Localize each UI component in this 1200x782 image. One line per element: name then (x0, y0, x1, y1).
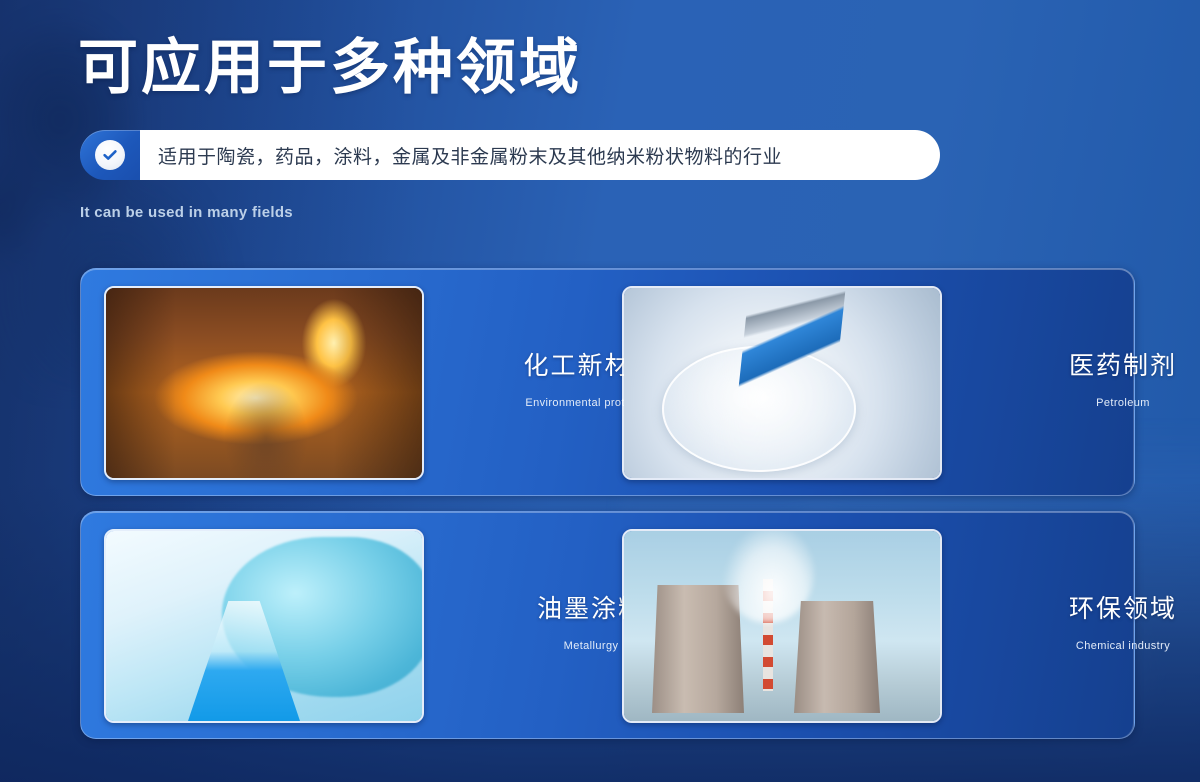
card-subtitle: Chemical industry (993, 640, 1200, 652)
card-title: 环保领域 (993, 592, 1200, 626)
thumbnail-petri-dish-tweezers (622, 286, 942, 480)
fields-card-row-2[interactable]: 油墨涂料 Metallurgy 环保领域 Chemical industry (80, 511, 1135, 739)
application-fields-banner: 可应用于多种领域 适用于陶瓷，药品，涂料，金属及非金属粉末及其他纳米粉状物料的行… (0, 0, 1200, 782)
english-subtitle: It can be used in many fields (80, 204, 293, 221)
card-subtitle: Petroleum (993, 397, 1200, 409)
page-title: 可应用于多种领域 (78, 34, 582, 102)
card-caption-environmental-protection: 环保领域 Chemical industry (993, 592, 1200, 652)
thumbnail-foundry-molten-metal (104, 286, 424, 480)
subtitle-pill: 适用于陶瓷，药品，涂料，金属及非金属粉末及其他纳米粉状物料的行业 (140, 130, 940, 180)
check-badge (80, 130, 140, 180)
towers-photo-art (624, 531, 940, 721)
thumbnail-gloved-hand-flask (104, 529, 424, 723)
fields-card-row-1[interactable]: 化工新材料 Environmental protection 医药制剂 Petr… (80, 268, 1135, 496)
foundry-photo-art (106, 288, 422, 478)
card-caption-pharmaceutical-preparations: 医药制剂 Petroleum (993, 349, 1200, 409)
check-circle-icon (95, 140, 125, 170)
smoke-plume-shape (722, 529, 814, 623)
flask-photo-art (106, 531, 422, 721)
subtitle-bar: 适用于陶瓷，药品，涂料，金属及非金属粉末及其他纳米粉状物料的行业 (80, 130, 940, 180)
thumbnail-cooling-towers (622, 529, 942, 723)
card-title: 医药制剂 (993, 349, 1200, 383)
petri-photo-art (624, 288, 940, 478)
subtitle-text: 适用于陶瓷，药品，涂料，金属及非金属粉末及其他纳米粉状物料的行业 (158, 142, 782, 169)
header: 可应用于多种领域 (78, 34, 582, 102)
